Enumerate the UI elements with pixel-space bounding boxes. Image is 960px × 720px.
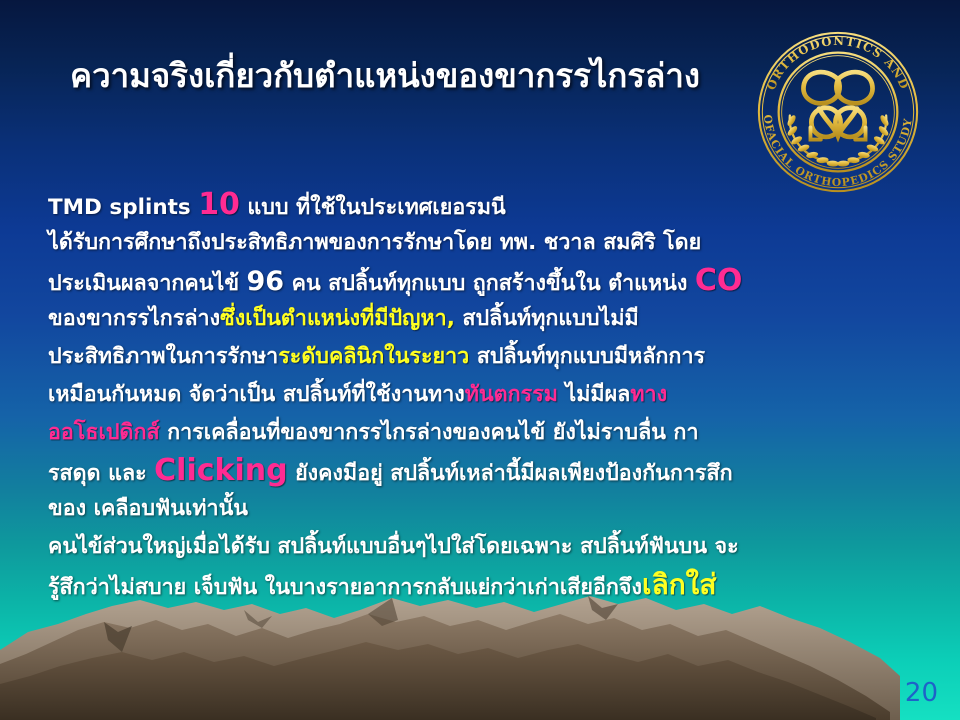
body-text-run: CO: [695, 263, 743, 298]
body-text-run: ของ เคลือบฟันเท่านั้น: [48, 496, 248, 521]
body-text-run: คน สปลิ้นท์ทุกแบบ ถูกสร้างขึ้นใน ตำแหน่ง: [284, 271, 695, 296]
body-text-run: แบบ ที่ใช้ในประเทศเยอรมนี: [240, 195, 506, 220]
body-text-run: รู้สึกว่าไม่สบาย เจ็บฟัน ในบางรายอาการกล…: [48, 575, 642, 600]
body-text-run: 10: [198, 187, 240, 222]
page-number: 20: [905, 678, 938, 708]
body-line: ประเมินผลจากคนไข้ 96 คน สปลิ้นท์ทุกแบบ ถ…: [48, 262, 938, 300]
body-text-run: ยังคงมีอยู่ สปลิ้นท์เหล่านี้มีผลเพียงป้อ…: [288, 461, 733, 486]
body-line: รู้สึกว่าไม่สบาย เจ็บฟัน ในบางรายอาการกล…: [48, 566, 938, 604]
body-text-run: Clicking: [154, 453, 287, 488]
body-text-run: การเคลื่อนที่ของขากรรไกรล่างของคนไข้ ยัง…: [160, 420, 699, 445]
body-line: TMD splints 10 แบบ ที่ใช้ในประเทศเยอรมนี: [48, 186, 938, 224]
body-line: เหมือนกันหมด จัดว่าเป็น สปลิ้นท์ที่ใช้งา…: [48, 376, 938, 414]
body-text-run: ประเมินผลจากคนไข้: [48, 271, 247, 296]
slide-canvas: ความจริงเกี่ยวกับตำแหน่งของขากรรไกรล่าง …: [0, 0, 960, 720]
page-title: ความจริงเกี่ยวกับตำแหน่งของขากรรไกรล่าง: [70, 49, 700, 102]
body-text-run: ทาง: [630, 382, 667, 407]
body-line: ของ เคลือบฟันเท่านั้น: [48, 490, 938, 528]
body-text-run: ได้รับการศึกษาถึงประสิทธิภาพของการรักษาโ…: [48, 230, 701, 255]
body-text-run: เลิกใส่: [642, 568, 716, 601]
body-line: ออโธเปดิกส์ การเคลื่อนที่ของขากรรไกรล่าง…: [48, 414, 938, 452]
body-line: รสดุด และ Clicking ยังคงมีอยู่ สปลิ้นท์เ…: [48, 452, 938, 490]
body-text-run: ประสิทธิภาพในการรักษา: [48, 344, 278, 369]
body-text-run: TMD splints: [48, 195, 198, 220]
body-text-run: ไม่มีผล: [558, 382, 630, 407]
slide-title-bar: ความจริงเกี่ยวกับตำแหน่งของขากรรไกรล่าง: [0, 44, 770, 106]
body-text-run: สปลิ้นท์ทุกแบบไม่มี: [455, 306, 639, 331]
body-text-run: รสดุด และ: [48, 461, 154, 486]
body-text-run: 96: [247, 266, 285, 297]
orthodontics-study-club-logo-icon: ORTHODONTICS AND DENTOFACIAL ORTHOPEDICS…: [752, 26, 924, 198]
body-line: คนไข้ส่วนใหญ่เมื่อได้รับ สปลิ้นท์แบบอื่น…: [48, 528, 938, 566]
body-line: ได้รับการศึกษาถึงประสิทธิภาพของการรักษาโ…: [48, 224, 938, 262]
body-line: ของขากรรไกรล่างซึ่งเป็นตำแหน่งที่มีปัญหา…: [48, 300, 938, 338]
body-text-run: ทันตกรรม: [465, 382, 558, 407]
body-text-run: ซึ่งเป็นตำแหน่งที่มีปัญหา,: [220, 306, 455, 331]
body-text-run: คนไข้ส่วนใหญ่เมื่อได้รับ สปลิ้นท์แบบอื่น…: [48, 534, 739, 559]
body-line: ประสิทธิภาพในการรักษาระดับคลินิกในระยาว …: [48, 338, 938, 376]
body-text-run: เหมือนกันหมด จัดว่าเป็น สปลิ้นท์ที่ใช้งา…: [48, 382, 465, 407]
slide-body-text: TMD splints 10 แบบ ที่ใช้ในประเทศเยอรมนี…: [48, 186, 938, 604]
body-text-run: ออโธเปดิกส์: [48, 420, 160, 445]
body-text-run: สปลิ้นท์ทุกแบบมีหลักการ: [469, 344, 705, 369]
body-text-run: ระดับคลินิกในระยาว: [278, 344, 469, 369]
body-text-run: ของขากรรไกรล่าง: [48, 306, 220, 331]
